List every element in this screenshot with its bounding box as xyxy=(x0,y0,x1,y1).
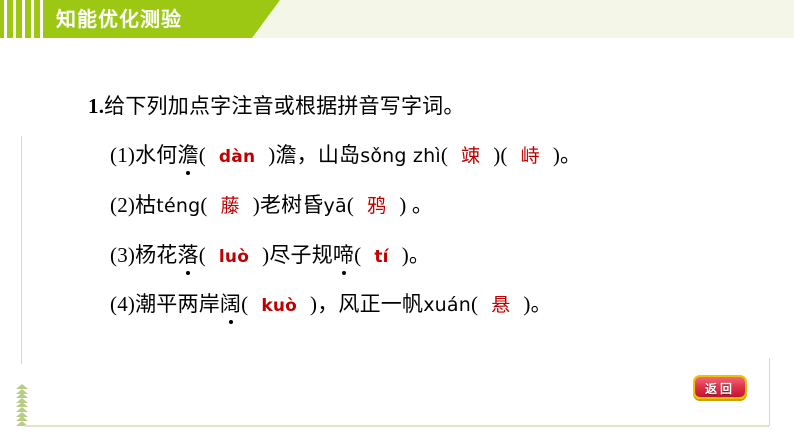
answer-pinyin: dàn xyxy=(206,147,268,167)
answer-pinyin: tí xyxy=(361,247,401,267)
question-title: 1.给下列加点字注音或根据拼音写字词。 xyxy=(88,90,465,120)
dotted-character: 啼 xyxy=(333,239,354,269)
answer-pinyin: luò xyxy=(206,247,262,267)
answer-character: 藤 xyxy=(208,196,253,217)
pinyin-text: yā xyxy=(324,195,347,217)
sentence-text: )老树昏 xyxy=(253,193,324,217)
dotted-character: 阔 xyxy=(220,288,241,318)
sentence-text: )( xyxy=(493,143,507,167)
pinyin-text: téng xyxy=(156,195,200,217)
question-number: 1. xyxy=(88,94,104,118)
sentence-text: )。 xyxy=(553,143,581,167)
dotted-character: 落 xyxy=(178,239,199,269)
answer-character: 峙 xyxy=(508,146,553,167)
answer-pinyin: kuò xyxy=(248,296,310,316)
sentence-text: ( xyxy=(347,193,354,217)
answer-character: 竦 xyxy=(448,146,493,167)
answer-character: 鸦 xyxy=(354,196,399,217)
sentence-text: )澹，山岛 xyxy=(268,143,360,167)
sentence-text: 枯 xyxy=(135,193,156,217)
sentence-text: )。 xyxy=(402,243,430,267)
pinyin-text: sǒng zhì xyxy=(360,145,441,167)
item-label: (1) xyxy=(110,143,135,167)
sentence-text: )尽子规 xyxy=(262,243,333,267)
sentence-text: ) 。 xyxy=(399,193,433,217)
return-button[interactable]: 返回 xyxy=(693,375,747,399)
sentence-text: ( xyxy=(441,143,448,167)
sentence-text: ( xyxy=(199,243,206,267)
sentence-text: 潮平两岸 xyxy=(135,292,220,316)
item-label: (4) xyxy=(110,292,135,316)
sentence-text: ( xyxy=(200,193,207,217)
item-label: (2) xyxy=(110,193,135,217)
question-item-4: (4)潮平两岸阔(kuò)，风正一帆xuán(悬)。 xyxy=(110,288,552,318)
question-item-2: (2)枯téng(藤)老树昏yā(鸦) 。 xyxy=(110,189,433,219)
question-item-3: (3)杨花落(luò)尽子规啼(tí)。 xyxy=(110,239,430,269)
question-item-1: (1)水何澹(dàn)澹，山岛sǒng zhì(竦)(峙)。 xyxy=(110,139,581,169)
sentence-text: 水何 xyxy=(135,143,177,167)
dotted-character: 澹 xyxy=(178,139,199,169)
sentence-text: ( xyxy=(199,143,206,167)
question-prompt: 给下列加点字注音或根据拼音写字词。 xyxy=(104,94,464,118)
pinyin-text: xuán xyxy=(423,294,471,316)
item-label: (3) xyxy=(110,243,135,267)
answer-character: 悬 xyxy=(478,295,523,316)
sentence-text: )，风正一帆 xyxy=(310,292,423,316)
sentence-text: )。 xyxy=(523,292,551,316)
sentence-text: 杨花 xyxy=(135,243,177,267)
question-content: 1.给下列加点字注音或根据拼音写字词。 (1)水何澹(dàn)澹，山岛sǒng … xyxy=(0,0,794,447)
